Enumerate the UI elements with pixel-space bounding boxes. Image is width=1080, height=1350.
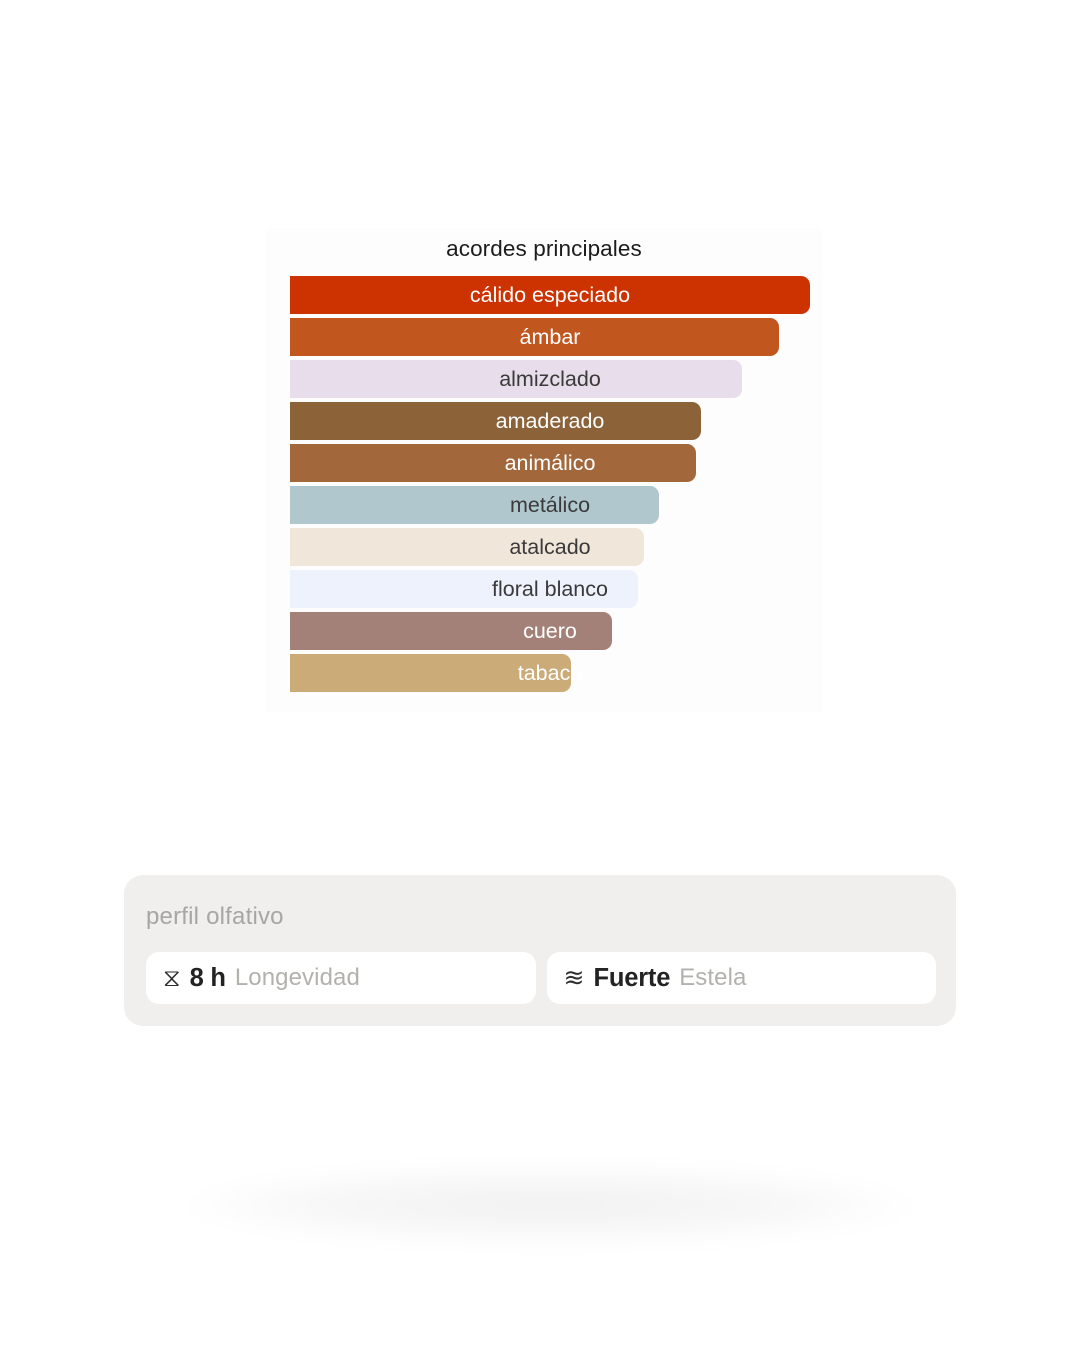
accord-bar-fill (290, 528, 644, 566)
accord-bar-fill (290, 318, 779, 356)
accord-bar-row[interactable]: atalcado (290, 528, 810, 566)
accord-bar-row[interactable]: animálico (290, 444, 810, 482)
accords-chart-panel: acordes principales cálido especiadoámba… (266, 228, 822, 712)
accord-bar-row[interactable]: cuero (290, 612, 810, 650)
profile-heading: perfil olfativo (146, 903, 284, 931)
accord-bar-fill (290, 570, 638, 608)
profile-metric-pill[interactable]: ⧖8 hLongevidad (146, 952, 536, 1004)
olfactory-profile-card: perfil olfativo ⧖8 hLongevidad≋FuerteEst… (124, 875, 956, 1026)
accord-bar-row[interactable]: cálido especiado (290, 276, 810, 314)
accord-bar-fill (290, 486, 659, 524)
accords-bar-list: cálido especiadoámbaralmizcladoamaderado… (290, 276, 810, 696)
profile-metric-value: Fuerte (593, 964, 670, 993)
hourglass-icon: ⧖ (163, 966, 181, 991)
accord-bar-fill (290, 402, 701, 440)
accord-bar-row[interactable]: amaderado (290, 402, 810, 440)
profile-metric-caption: Estela (679, 964, 746, 992)
accord-bar-fill (290, 654, 571, 692)
accord-bar-row[interactable]: floral blanco (290, 570, 810, 608)
accord-bar-fill (290, 276, 810, 314)
profile-metric-value: 8 h (190, 964, 226, 993)
accord-bar-row[interactable]: almizclado (290, 360, 810, 398)
accord-bar-row[interactable]: ámbar (290, 318, 810, 356)
accord-bar-fill (290, 444, 696, 482)
chart-title: acordes principales (266, 236, 822, 262)
accord-bar-row[interactable]: metálico (290, 486, 810, 524)
accord-bar-fill (290, 612, 612, 650)
profile-metric-caption: Longevidad (235, 964, 360, 992)
profile-metric-row: ⧖8 hLongevidad≋FuerteEstela (146, 952, 936, 1004)
accord-bar-row[interactable]: tabaco (290, 654, 810, 692)
page-bottom-shadow (180, 1165, 920, 1245)
profile-metric-pill[interactable]: ≋FuerteEstela (547, 952, 937, 1004)
accord-bar-fill (290, 360, 742, 398)
wave-icon: ≋ (564, 966, 585, 991)
